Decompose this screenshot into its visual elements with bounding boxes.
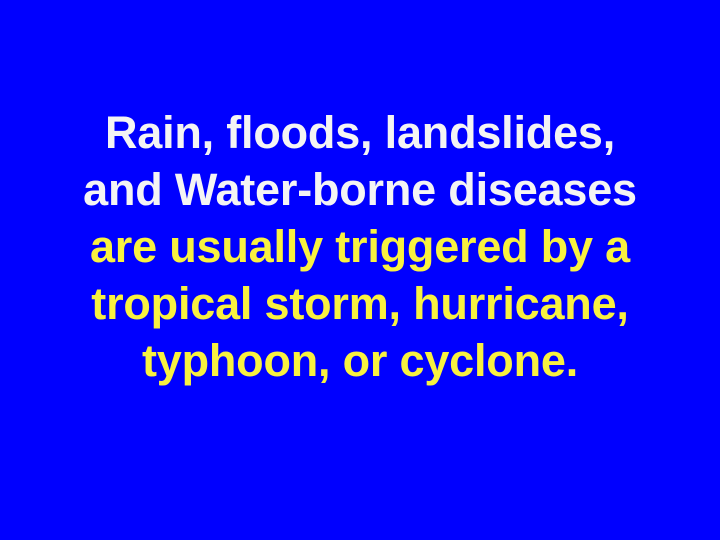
presentation-slide: Rain, floods, landslides, and Water-born… bbox=[0, 0, 720, 540]
slide-text-line-3: are usually triggered by a bbox=[0, 218, 720, 275]
slide-text-line-2: and Water-borne diseases bbox=[0, 161, 720, 218]
slide-text-line-1: Rain, floods, landslides, bbox=[0, 104, 720, 161]
slide-body-text-block: Rain, floods, landslides, and Water-born… bbox=[0, 104, 720, 389]
slide-text-line-4: tropical storm, hurricane, bbox=[0, 275, 720, 332]
slide-text-line-5: typhoon, or cyclone. bbox=[0, 332, 720, 389]
